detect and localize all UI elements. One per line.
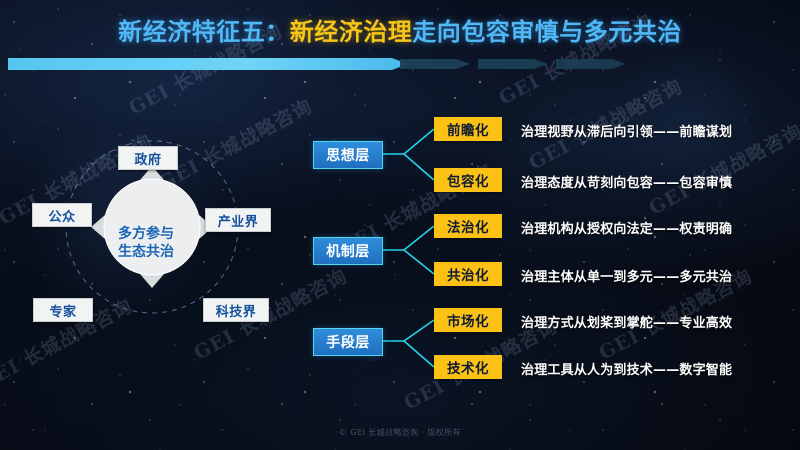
hub-node-experts[interactable]: 专家 [33, 298, 93, 322]
title-segment-suffix: 走向包容审慎与多元共治 [412, 17, 682, 46]
item-co-governance[interactable]: 共治化 [434, 262, 502, 286]
desc-inclusive: 治理态度从苛刻向包容——包容审慎 [521, 172, 799, 191]
title-underline-bar [8, 57, 792, 71]
connector-ideology-to-item-2 [404, 154, 434, 180]
bar-segment-dim-1 [400, 59, 470, 69]
hub-center-line-2: 生态共治 [94, 244, 198, 262]
slide-title-container: 新经济特征五：新经济治理走向包容审慎与多元共治 [0, 18, 800, 47]
hub-node-public[interactable]: 公众 [32, 203, 92, 227]
bar-segment-dim-2 [478, 59, 548, 69]
connector-ideology-to-item-1 [404, 129, 434, 154]
desc-rule-of-law: 治理机构从授权向法定——权责明确 [521, 218, 799, 237]
level-ideology[interactable]: 思想层 [313, 141, 383, 169]
bar-segment-bright [8, 58, 408, 70]
connector-mechanism-to-item-1 [404, 226, 434, 250]
hub-center-line-1: 多方参与 [94, 226, 198, 244]
title-segment-highlight: 新经济治理 [290, 17, 413, 46]
level-mechanism[interactable]: 机制层 [313, 237, 383, 265]
desc-marketization: 治理方式从划桨到掌舵——专业高效 [521, 312, 799, 331]
hub-node-government[interactable]: 政府 [118, 146, 178, 170]
title-segment-prefix: 新经济特征五： [118, 17, 290, 46]
hub-center-label: 多方参与 生态共治 [94, 226, 198, 262]
connector-means-to-item-2 [404, 341, 434, 367]
desc-technologization: 治理工具从人为到技术——数字智能 [521, 359, 799, 378]
desc-forward-looking: 治理视野从滞后向引领——前瞻谋划 [521, 121, 799, 140]
item-inclusive[interactable]: 包容化 [434, 168, 502, 192]
level-means[interactable]: 手段层 [313, 328, 383, 356]
page-title: 新经济特征五：新经济治理走向包容审慎与多元共治 [118, 18, 682, 47]
slide-canvas: GEI 长城战略咨询 GEI 长城战略咨询 GEI 长城战略咨询 GEI 长城战… [0, 0, 800, 450]
desc-co-governance: 治理主体从单一到多元——多元共治 [521, 266, 799, 285]
connector-mechanism-to-item-2 [404, 250, 434, 274]
item-technologization[interactable]: 技术化 [434, 355, 502, 379]
item-forward-looking[interactable]: 前瞻化 [434, 117, 502, 141]
hub-node-industry[interactable]: 产业界 [205, 208, 271, 232]
hub-node-tech[interactable]: 科技界 [203, 298, 269, 322]
item-marketization[interactable]: 市场化 [434, 308, 502, 332]
copyright-footer: © GEI 长城战略咨询 · 版权所有 [0, 427, 800, 438]
item-rule-of-law[interactable]: 法治化 [434, 214, 502, 238]
bar-segment-dim-3 [556, 59, 626, 69]
connector-means-to-item-1 [404, 320, 434, 341]
